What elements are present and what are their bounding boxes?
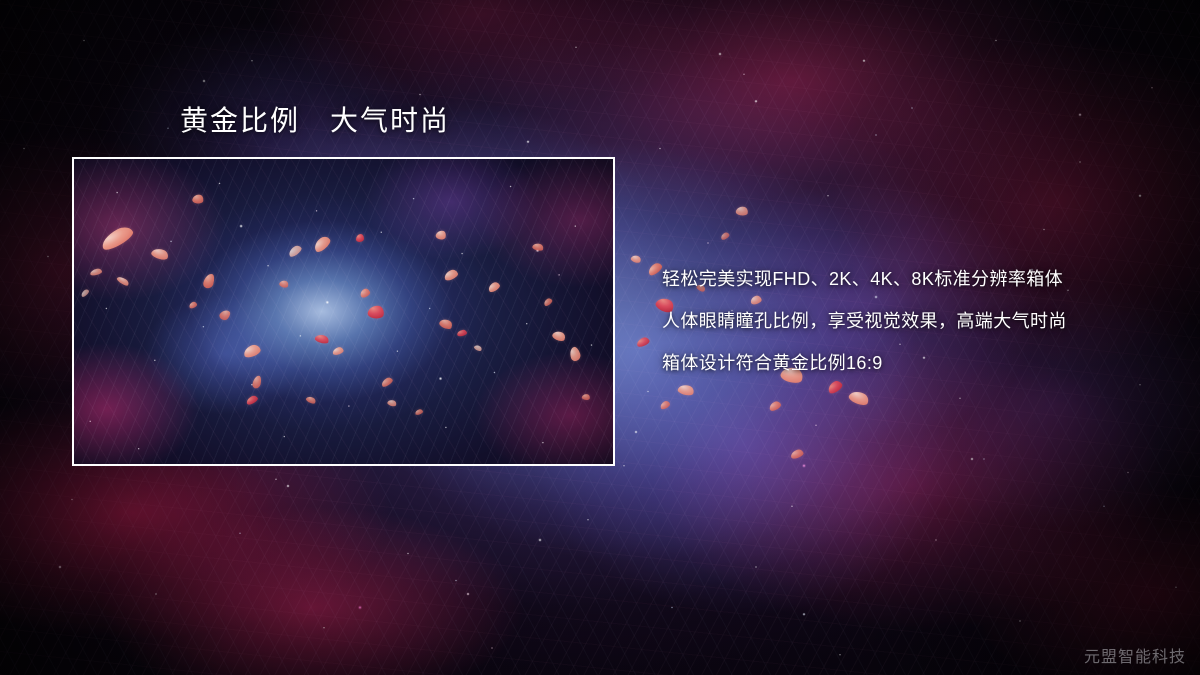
flower-petal [99,224,136,253]
feature-line-2: 人体眼睛瞳孔比例，享受视觉效果，高端大气时尚 [662,300,1162,342]
flower-petal [474,344,483,352]
inner-nebula-clouds [74,159,613,464]
flower-petal [359,287,371,298]
flower-petal [332,346,344,355]
flower-petal [568,346,582,362]
flower-petal [768,400,782,412]
flower-petal [380,376,394,388]
flower-petal [218,307,232,321]
flower-petal [677,383,695,397]
flower-petal [387,399,398,408]
flower-petal [314,333,330,345]
flower-petal [151,246,170,261]
flower-petal [367,304,385,320]
flower-petal [531,243,544,253]
flower-petal [789,448,804,460]
flower-petal [245,394,259,406]
feature-line-3: 箱体设计符合黄金比例16:9 [662,342,1162,384]
flower-petal [115,275,129,287]
flower-petal [719,231,730,241]
flower-petal [202,272,216,289]
flower-petal [242,343,262,359]
inner-petals-overlay [74,159,613,464]
slide-title: 黄金比例 大气时尚 [180,103,450,138]
flower-petal [848,389,871,408]
flower-petal [438,317,454,331]
flower-petal [287,243,303,257]
flower-petal [487,281,501,294]
flower-petal [80,288,90,298]
company-watermark: 元盟智能科技 [1084,643,1186,667]
flower-petal [188,301,198,309]
flower-petal [252,374,263,388]
flower-petal [659,400,671,411]
flower-petal [457,329,468,337]
flower-petal [636,336,651,348]
flower-petal [305,395,317,405]
flower-petal [543,297,554,307]
inner-nebula-base [74,159,613,464]
flower-petal [435,230,447,241]
feature-line-1: 轻松完美实现FHD、2K、4K、8K标准分辨率箱体 [662,258,1162,300]
inner-starfield [74,159,613,464]
flower-petal [356,234,364,242]
flower-petal [414,409,423,416]
flower-petal [443,268,459,282]
flower-petal [630,254,642,264]
flower-petal [279,279,290,289]
feature-description-block: 轻松完美实现FHD、2K、4K、8K标准分辨率箱体 人体眼睛瞳孔比例，享受视觉效… [662,258,1162,384]
presentation-slide: 黄金比例 大气时尚 轻松完美实现FHD、2K、4K、8K标准分辨率箱体 人体眼睛… [0,0,1200,675]
flower-petal [582,393,591,401]
flower-petal [735,205,748,216]
flower-petal [192,193,204,203]
flower-petal [89,268,102,276]
inner-nebula-filaments [74,159,613,464]
framed-product-image[interactable] [72,157,615,466]
flower-petal [551,329,567,343]
flower-petal [311,235,332,255]
